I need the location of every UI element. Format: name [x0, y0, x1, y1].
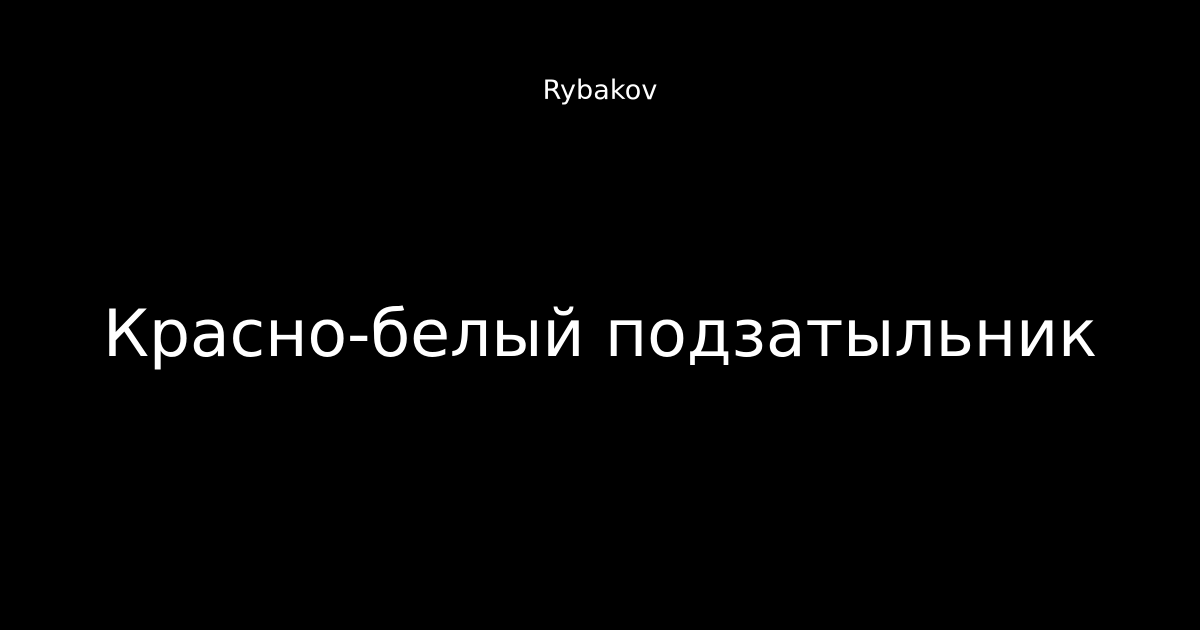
headline-container: Красно-белый подзатыльник: [0, 252, 1200, 417]
social-share-card: Rybakov Красно-белый подзатыльник: [0, 0, 1200, 630]
page-title: Красно-белый подзатыльник: [103, 296, 1097, 374]
author-byline: Rybakov: [0, 74, 1200, 108]
